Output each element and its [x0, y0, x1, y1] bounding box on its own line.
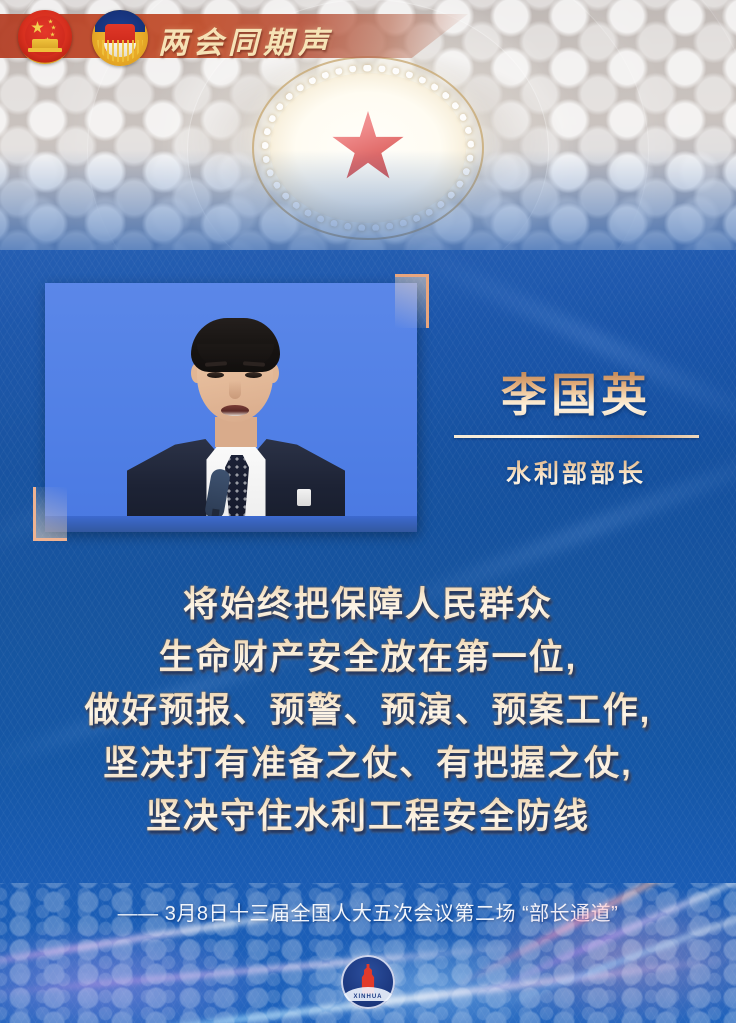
photo-mouth: [221, 405, 249, 416]
header-banner-title: 两会同期声: [158, 18, 333, 62]
speaker-name: 李国英: [448, 372, 704, 418]
photo-eye: [245, 372, 262, 378]
cppcc-gold-rays: [97, 40, 143, 62]
photo-nose: [229, 381, 241, 399]
photo-eye: [207, 372, 224, 378]
xinhua-logo-label: XINHUA: [341, 994, 395, 1000]
quote-line: 坚决打有准备之仗、有把握之仗,: [0, 737, 736, 790]
cppcc-emblem-icon: [92, 10, 148, 66]
photo-desk: [45, 516, 417, 532]
xinhua-news-agency-logo: XINHUA: [341, 955, 395, 1009]
name-divider: [454, 435, 699, 438]
national-emblem-icon: [18, 10, 72, 64]
quote-line: 生命财产安全放在第一位,: [0, 631, 736, 684]
emblem-base: [28, 48, 62, 52]
speaker-photo: [45, 283, 417, 532]
speaker-photo-frame: [45, 283, 417, 532]
quote-line: 坚决守住水利工程安全防线: [0, 790, 736, 843]
quote-block: 将始终把保障人民群众 生命财产安全放在第一位, 做好预报、预警、预演、预案工作,…: [0, 578, 736, 843]
quote-line: 做好预报、预警、预演、预案工作,: [0, 684, 736, 737]
quote-line: 将始终把保障人民群众: [0, 578, 736, 631]
speaker-role: 水利部部长: [448, 454, 704, 490]
poster-root: 两会同期声: [0, 0, 736, 1023]
speaker-name-block: 李国英 水利部部长: [448, 372, 704, 490]
photo-lapel-badge: [297, 489, 311, 506]
